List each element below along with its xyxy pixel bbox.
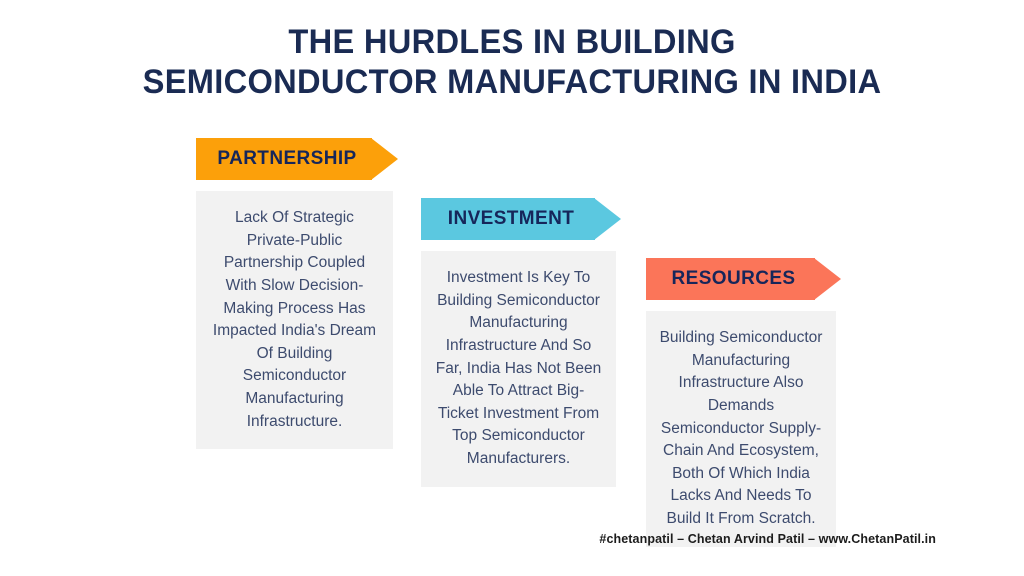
arrow-right-icon (371, 138, 398, 180)
banner-partnership-label: PARTNERSHIP (217, 148, 356, 170)
banner-partnership: PARTNERSHIP (196, 138, 398, 180)
banner-resources-label: RESOURCES (672, 268, 796, 290)
infographic-canvas: THE HURDLES IN BUILDING SEMICONDUCTOR MA… (0, 0, 1024, 576)
page-title-line-1: THE HURDLES IN BUILDING (20, 22, 1003, 62)
arrow-right-icon (814, 258, 841, 300)
panel-partnership-text: Lack Of Strategic Private-Public Partner… (196, 191, 393, 449)
page-title: THE HURDLES IN BUILDING SEMICONDUCTOR MA… (0, 22, 1024, 102)
banner-investment: INVESTMENT (421, 198, 621, 240)
footer-credit: #chetanpatil – Chetan Arvind Patil – www… (599, 532, 936, 546)
banner-investment-label: INVESTMENT (448, 208, 574, 230)
card-investment: INVESTMENT Investment Is Key To Building… (421, 198, 621, 487)
page-title-line-2: SEMICONDUCTOR MANUFACTURING IN INDIA (20, 62, 1003, 102)
banner-resources: RESOURCES (646, 258, 841, 300)
card-partnership: PARTNERSHIP Lack Of Strategic Private-Pu… (196, 138, 398, 449)
card-resources: RESOURCES Building Semiconductor Manufac… (646, 258, 841, 547)
panel-resources-text: Building Semiconductor Manufacturing Inf… (646, 311, 836, 547)
arrow-right-icon (594, 198, 621, 240)
panel-investment-text: Investment Is Key To Building Semiconduc… (421, 251, 616, 487)
